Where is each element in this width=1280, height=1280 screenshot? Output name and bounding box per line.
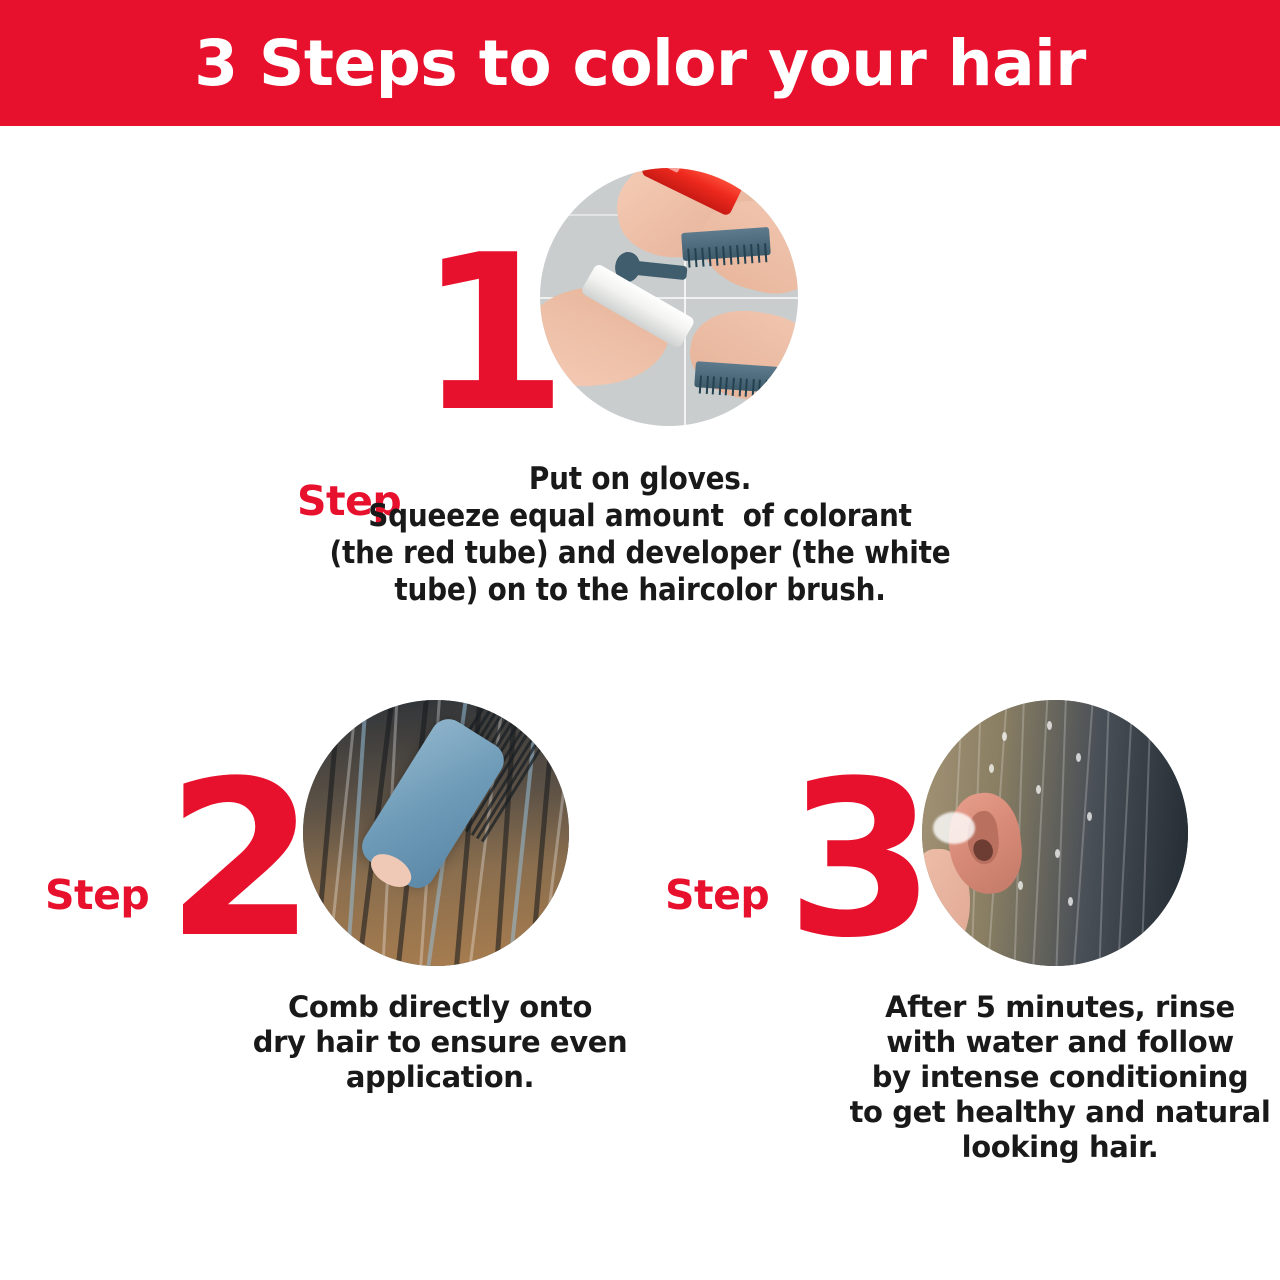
haircolor-brush	[694, 361, 778, 392]
step-2-block: Step 2 Com	[0, 690, 640, 1190]
step-2-label: Step	[45, 875, 149, 916]
water-droplet	[1055, 849, 1060, 858]
header-banner: 3 Steps to color your hair	[0, 0, 1280, 126]
caption-line: Squeeze equal amount of colorant	[290, 498, 990, 535]
step-1-block: Step 1	[0, 126, 1280, 646]
caption-line: tube) on to the haircolor brush.	[290, 572, 990, 609]
step-2-caption: Comb directly onto dry hair to ensure ev…	[220, 990, 660, 1095]
caption-line: Comb directly onto	[220, 990, 660, 1025]
caption-line: (the red tube) and developer (the white	[290, 535, 990, 572]
caption-line: to get healthy and natural	[840, 1095, 1280, 1130]
caption-line: application.	[220, 1060, 660, 1095]
infographic-page: 3 Steps to color your hair Step 1	[0, 0, 1280, 1280]
step-2-image	[303, 700, 569, 966]
step-2-number: 2	[166, 752, 312, 967]
step-3-number: 3	[786, 752, 932, 967]
foam	[933, 812, 976, 844]
brush-handle	[625, 260, 688, 281]
caption-line: by intense conditioning	[840, 1060, 1280, 1095]
water-droplet	[1002, 732, 1007, 741]
caption-line: After 5 minutes, rinse	[840, 990, 1280, 1025]
page-title: 3 Steps to color your hair	[194, 32, 1086, 95]
caption-line: Put on gloves.	[290, 461, 990, 498]
caption-line: with water and follow	[840, 1025, 1280, 1060]
water-droplet	[989, 764, 994, 773]
step-1-caption: Put on gloves. Squeeze equal amount of c…	[290, 461, 990, 609]
step-3-block: Step 3 Afte	[640, 690, 1280, 1210]
caption-line: dry hair to ensure even	[220, 1025, 660, 1060]
caption-line: looking hair.	[840, 1130, 1280, 1165]
step-1-image	[540, 168, 798, 426]
water-droplet	[1087, 812, 1092, 821]
hand	[683, 302, 798, 411]
step-3-caption: After 5 minutes, rinse with water and fo…	[840, 990, 1280, 1165]
step-3-image	[922, 700, 1188, 966]
step-3-label: Step	[665, 875, 769, 916]
water-droplet	[1018, 881, 1023, 890]
